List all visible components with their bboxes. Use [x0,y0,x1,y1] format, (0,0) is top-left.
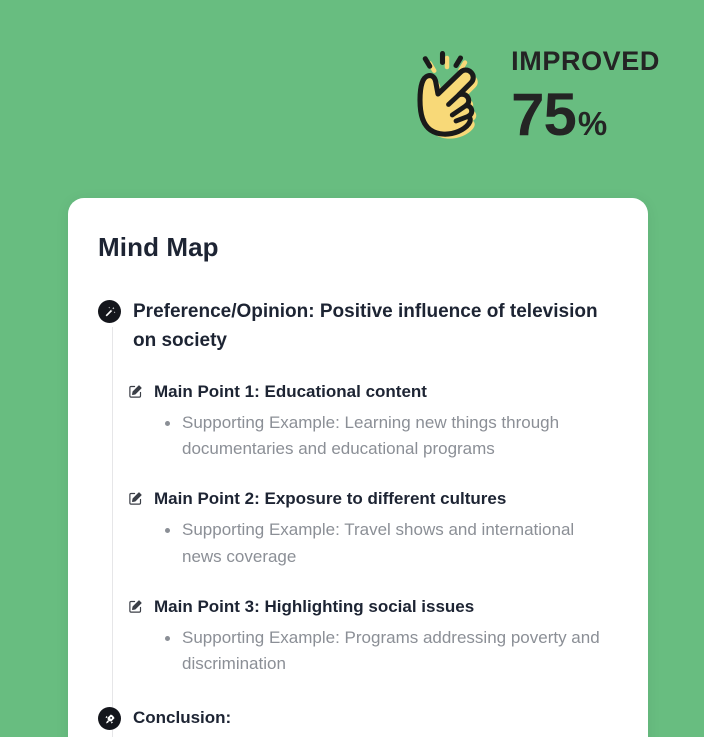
list-item: Supporting Example: Programs addressing … [165,625,614,678]
rocket-icon [98,707,121,730]
mind-map-branches: Main Point 1: Educational content Suppor… [98,380,618,677]
branch-sub-list: Supporting Example: Travel shows and int… [128,517,618,570]
magic-wand-icon [98,300,121,323]
branch-header[interactable]: Main Point 3: Highlighting social issues [128,595,618,619]
mind-map-branch[interactable]: Main Point 2: Exposure to different cult… [128,487,618,569]
mind-map-tree: Preference/Opinion: Positive influence o… [98,297,618,737]
conclusion-block: Conclusion: [133,704,231,730]
branch-sub-list: Supporting Example: Programs addressing … [128,625,618,678]
edit-square-icon [128,491,143,506]
improved-label: IMPROVED [511,48,660,75]
tree-connector-line [112,327,113,737]
branch-header[interactable]: Main Point 2: Exposure to different cult… [128,487,618,511]
page-title: Mind Map [98,232,618,263]
conclusion-title: Conclusion: [133,706,231,730]
mind-map-conclusion-node[interactable]: Conclusion: [98,704,618,730]
mind-map-root-group: Preference/Opinion: Positive influence o… [98,297,618,737]
branch-title: Main Point 3: Highlighting social issues [154,595,474,619]
improved-percentage-value: 75 [511,85,576,145]
branch-title: Main Point 2: Exposure to different cult… [154,487,506,511]
mind-map-card: Mind Map [68,198,648,737]
edit-square-icon [128,599,143,614]
branch-sub-list: Supporting Example: Learning new things … [128,410,618,463]
branch-header[interactable]: Main Point 1: Educational content [128,380,618,404]
mind-map-branch[interactable]: Main Point 1: Educational content Suppor… [128,380,618,462]
app-screen: IMPROVED 75 % Mind Map [0,0,704,737]
percent-sign: % [578,107,607,140]
list-item: Supporting Example: Travel shows and int… [165,517,614,570]
mind-map-root-node[interactable]: Preference/Opinion: Positive influence o… [98,297,618,356]
improvement-stat: IMPROVED 75 % [399,48,660,145]
improved-percentage: 75 % [511,85,607,145]
edit-square-icon [128,384,143,399]
branch-title: Main Point 1: Educational content [154,380,427,404]
mind-map-branch[interactable]: Main Point 3: Highlighting social issues… [128,595,618,677]
tap-hand-icon [399,49,495,145]
mind-map-root-label: Preference/Opinion: Positive influence o… [133,297,618,356]
list-item: Supporting Example: Learning new things … [165,410,614,463]
improvement-stat-text: IMPROVED 75 % [511,48,660,145]
